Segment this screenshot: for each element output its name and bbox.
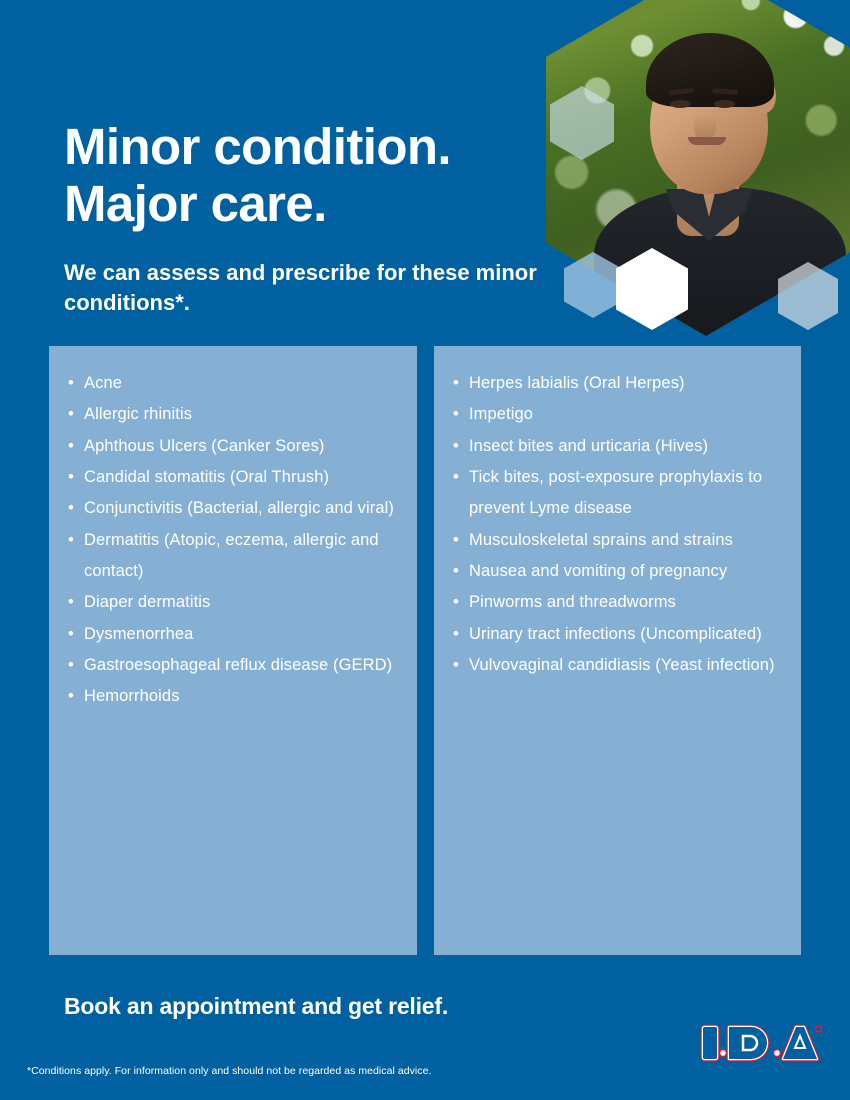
list-item: Dysmenorrhea [67, 619, 399, 650]
decorative-hexagon-bottom-right [778, 262, 838, 330]
list-item: Candidal stomatitis (Oral Thrush) [67, 462, 399, 493]
photo-person-ear [754, 79, 776, 113]
list-item: Conjunctivitis (Bacterial, allergic and … [67, 493, 399, 524]
list-item: Hemorrhoids [67, 681, 399, 712]
photo-person-eye-left [670, 100, 691, 108]
photo-person-brow-left [668, 87, 694, 95]
list-item: Insect bites and urticaria (Hives) [452, 431, 783, 462]
list-item: Gastroesophageal reflux disease (GERD) [67, 650, 399, 681]
photo-person-mouth [688, 137, 726, 145]
list-item: Herpes labialis (Oral Herpes) [452, 368, 783, 399]
headline-line-1: Minor condition. [64, 118, 451, 175]
list-item: Dermatitis (Atopic, eczema, allergic and… [67, 525, 399, 588]
photo-person-nose [694, 115, 716, 141]
headline-line-2: Major care. [64, 175, 584, 232]
decorative-hexagon-white [616, 248, 688, 330]
list-item: Urinary tract infections (Uncomplicated) [452, 619, 783, 650]
list-item: Impetigo [452, 399, 783, 430]
list-item: Diaper dermatitis [67, 587, 399, 618]
conditions-section: Acne Allergic rhinitis Aphthous Ulcers (… [49, 346, 801, 955]
list-item: Tick bites, post-exposure prophylaxis to… [452, 462, 783, 525]
conditions-list-right: Herpes labialis (Oral Herpes) Impetigo I… [452, 368, 783, 681]
list-item: Acne [67, 368, 399, 399]
disclaimer-text: *Conditions apply. For information only … [27, 1065, 431, 1077]
photo-person-torso [594, 187, 846, 336]
photo-person-collar [666, 189, 752, 243]
list-item: Aphthous Ulcers (Canker Sores) [67, 431, 399, 462]
photo-person-hair [646, 33, 774, 107]
photo-person-head [650, 42, 768, 194]
photo-background-foliage [546, 0, 850, 336]
conditions-card-right: Herpes labialis (Oral Herpes) Impetigo I… [434, 346, 801, 955]
hero-photo-hexagon [546, 0, 850, 336]
ida-logo-icon [700, 1020, 822, 1066]
decorative-hexagon-bottom-left [564, 252, 622, 318]
hero-artwork [540, 0, 850, 340]
list-item: Allergic rhinitis [67, 399, 399, 430]
photo-person-neck [677, 150, 739, 236]
conditions-card-left: Acne Allergic rhinitis Aphthous Ulcers (… [49, 346, 417, 955]
ida-logo [700, 1020, 822, 1066]
subheading: We can assess and prescribe for these mi… [64, 258, 564, 319]
conditions-list-left: Acne Allergic rhinitis Aphthous Ulcers (… [67, 368, 399, 713]
photo-person-eye-right [714, 100, 735, 108]
poster: Minor condition. Major care. We can asse… [0, 0, 850, 1100]
photo-person-brow-right [712, 88, 738, 95]
call-to-action-text: Book an appointment and get relief. [64, 993, 448, 1020]
list-item: Vulvovaginal candidiasis (Yeast infectio… [452, 650, 783, 681]
list-item: Pinworms and threadworms [452, 587, 783, 618]
list-item: Nausea and vomiting of pregnancy [452, 556, 783, 587]
list-item: Musculoskeletal sprains and strains [452, 525, 783, 556]
page-title: Minor condition. Major care. [64, 118, 584, 232]
